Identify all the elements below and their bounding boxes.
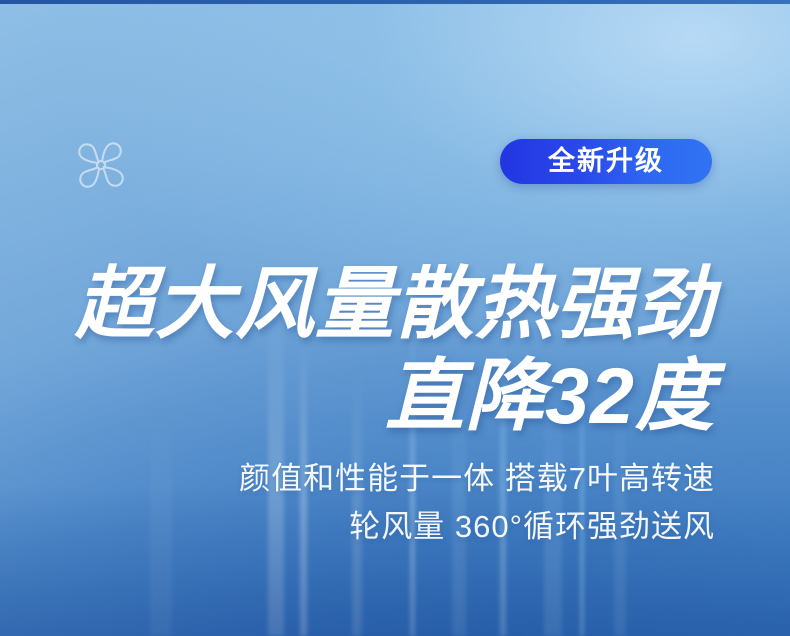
headline: 超大风量散热强劲 直降32度 <box>0 258 790 442</box>
product-promo-banner: 全新升级 超大风量散热强劲 直降32度 颜值和性能于一体 搭载7叶高转速 轮风量… <box>0 0 790 636</box>
subtitle-line-2: 轮风量 360°循环强劲送风 <box>0 503 715 551</box>
headline-line-1: 超大风量散热强劲 <box>0 258 715 350</box>
top-edge-strip <box>0 0 790 4</box>
new-upgrade-badge[interactable]: 全新升级 <box>500 139 712 184</box>
subtitle-line-1: 颜值和性能于一体 搭载7叶高转速 <box>0 455 715 503</box>
fan-icon <box>70 138 132 196</box>
headline-line-2: 直降32度 <box>0 350 715 442</box>
badge-label: 全新升级 <box>548 148 664 175</box>
subtitle: 颜值和性能于一体 搭载7叶高转速 轮风量 360°循环强劲送风 <box>0 455 790 551</box>
